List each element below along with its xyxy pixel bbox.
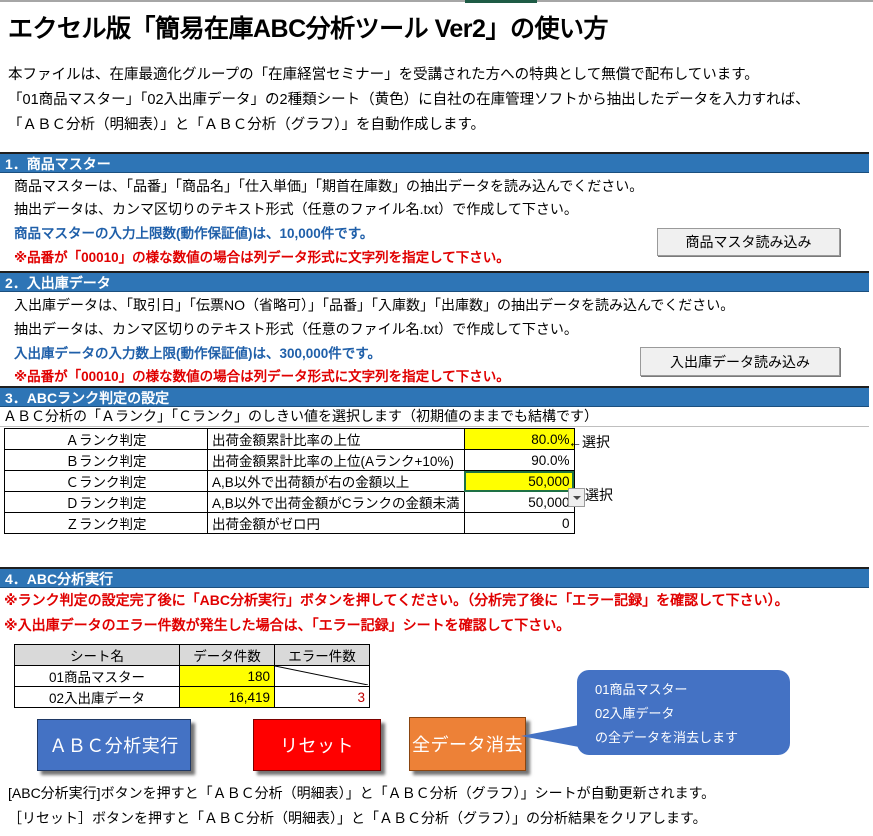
table-row: Ｂランク判定 出荷金額累計比率の上位(Aランク+10%) 90.0% <box>5 450 575 471</box>
callout-line-3: の全データを消去します <box>595 726 790 750</box>
window-top-edge-right <box>537 0 873 2</box>
footer-line-1: [ABC分析実行]ボタンを押すと「ＡＢＣ分析（明細表）」と「ＡＢＣ分析（グラフ）… <box>8 783 715 803</box>
rank-desc: A,B以外で出荷額が右の金額以上 <box>208 471 465 492</box>
section-header-1: 1．商品マスター <box>0 152 869 173</box>
error-count: 3 <box>275 687 370 708</box>
record-count: 180 <box>180 666 275 687</box>
col-header-errors: エラー件数 <box>275 645 370 666</box>
section-header-2: 2．入出庫データ <box>0 271 869 292</box>
section4-warning-1: ※ランク判定の設定完了後に「ABC分析実行」ボタンを押してください。（分析完了後… <box>4 591 789 610</box>
section3-note: ＡＢＣ分析の「Ａランク」「Ｃランク」のしきい値を選択します（初期値のままでも結構… <box>0 405 869 427</box>
section4-warning-2: ※入出庫データのエラー件数が発生した場合は、「エラー記録」シートを確認して下さい… <box>4 616 570 635</box>
col-header-count: データ件数 <box>180 645 275 666</box>
error-count-na-cell <box>275 666 370 687</box>
table-row: 02入出庫データ 16,419 3 <box>15 687 370 708</box>
load-product-master-button[interactable]: 商品マスタ読み込み <box>657 228 840 256</box>
rank-desc: A,B以外で出荷金額がCランクの金額未満 <box>208 492 465 513</box>
rank-label: Ｄランク判定 <box>5 492 208 513</box>
data-count-table: シート名 データ件数 エラー件数 01商品マスター 180 02入出庫データ 1… <box>14 644 370 708</box>
table-header-row: シート名 データ件数 エラー件数 <box>15 645 370 666</box>
rank-label: Ｃランク判定 <box>5 471 208 492</box>
callout-line-2: 02入庫データ <box>595 702 790 726</box>
section1-warning-note: ※品番が「00010」の様な数値の場合は列データ形式に文字列を指定して下さい。 <box>14 248 510 267</box>
rank-desc: 出荷金額累計比率の上位(Aランク+10%) <box>208 450 465 471</box>
sheet-name: 02入出庫データ <box>15 687 180 708</box>
intro-line-1: 本ファイルは、在庫最適化グループの「在庫経営セミナー」を受講された方への特典とし… <box>8 63 868 88</box>
active-sheet-tab-edge <box>465 0 537 3</box>
section2-line-2: 抽出データは、カンマ区切りのテキスト形式（任意のファイル名.txt）で作成して下… <box>14 320 578 339</box>
rank-value-c[interactable]: 50,000 <box>464 471 574 492</box>
rank-value-z: 0 <box>464 513 574 534</box>
section1-line-2: 抽出データは、カンマ区切りのテキスト形式（任意のファイル名.txt）で作成して下… <box>14 200 578 219</box>
sheet-name: 01商品マスター <box>15 666 180 687</box>
section1-limit-note: 商品マスターの入力上限数(動作保証値)は、10,000件です。 <box>14 224 373 243</box>
rank-value-a[interactable]: 80.0% <box>464 429 574 450</box>
table-row: Ｃランク判定 A,B以外で出荷額が右の金額以上 50,000 <box>5 471 575 492</box>
diagonal-strike-icon <box>275 666 368 685</box>
record-count: 16,419 <box>180 687 275 708</box>
table-row: Ｚランク判定 出荷金額がゼロ円 0 <box>5 513 575 534</box>
load-inout-data-button[interactable]: 入出庫データ読み込み <box>640 347 840 376</box>
table-row: Ａランク判定 出荷金額累計比率の上位 80.0% <box>5 429 575 450</box>
intro-paragraph: 本ファイルは、在庫最適化グループの「在庫経営セミナー」を受講された方への特典とし… <box>8 63 868 138</box>
rank-value-b: 90.0% <box>464 450 574 471</box>
section-header-4: 4．ABC分析実行 <box>0 567 869 588</box>
table-row: Ｄランク判定 A,B以外で出荷金額がCランクの金額未満 50,000 <box>5 492 575 513</box>
chevron-down-icon[interactable] <box>568 488 585 507</box>
table-row: 01商品マスター 180 <box>15 666 370 687</box>
rank-value-d: 50,000 <box>464 492 574 513</box>
rank-label: Ｂランク判定 <box>5 450 208 471</box>
callout-tail <box>521 725 579 747</box>
rank-label: Ａランク判定 <box>5 429 208 450</box>
rank-desc: 出荷金額累計比率の上位 <box>208 429 465 450</box>
section2-line-1: 入出庫データは、「取引日」「伝票NO（省略可）」「品番」「入庫数」「出庫数」の抽… <box>14 296 734 315</box>
select-hint-a: ←選択 <box>568 432 610 452</box>
callout-line-1: 01商品マスター <box>595 678 790 702</box>
rank-label: Ｚランク判定 <box>5 513 208 534</box>
intro-line-3: 「ＡＢＣ分析（明細表）」と「ＡＢＣ分析（グラフ）」を自動作成します。 <box>8 113 868 138</box>
col-header-sheet: シート名 <box>15 645 180 666</box>
section2-warning-note: ※品番が「00010」の様な数値の場合は列データ形式に文字列を指定して下さい。 <box>14 367 510 386</box>
page-title: エクセル版「簡易在庫ABC分析ツール Ver2」の使い方 <box>8 9 608 45</box>
section2-limit-note: 入出庫データの入力数上限(動作保証値)は、300,000件です。 <box>14 344 381 363</box>
section-header-3: 3．ABCランク判定の設定 <box>0 386 869 407</box>
section1-line-1: 商品マスターは、「品番」「商品名」「仕入単価」「期首在庫数」の抽出データを読み込… <box>14 177 643 196</box>
footer-line-2: ［リセット］ボタンを押すと「ＡＢＣ分析（明細表）」と「ＡＢＣ分析（グラフ）」の分… <box>8 808 707 828</box>
reset-button[interactable]: リセット <box>253 719 381 771</box>
rank-desc: 出荷金額がゼロ円 <box>208 513 465 534</box>
rank-settings-table: Ａランク判定 出荷金額累計比率の上位 80.0% Ｂランク判定 出荷金額累計比率… <box>4 428 575 534</box>
select-hint-c: 選択 <box>585 485 613 505</box>
clear-all-data-button[interactable]: 全データ消去 <box>409 717 526 771</box>
clear-data-callout: 01商品マスター 02入庫データ の全データを消去します <box>577 670 790 755</box>
run-abc-analysis-button[interactable]: ＡＢＣ分析実行 <box>37 719 191 771</box>
intro-line-2: 「01商品マスター」「02入出庫データ」の2種類シート（黄色）に自社の在庫管理ソ… <box>8 88 868 113</box>
window-top-edge-left <box>0 0 465 2</box>
